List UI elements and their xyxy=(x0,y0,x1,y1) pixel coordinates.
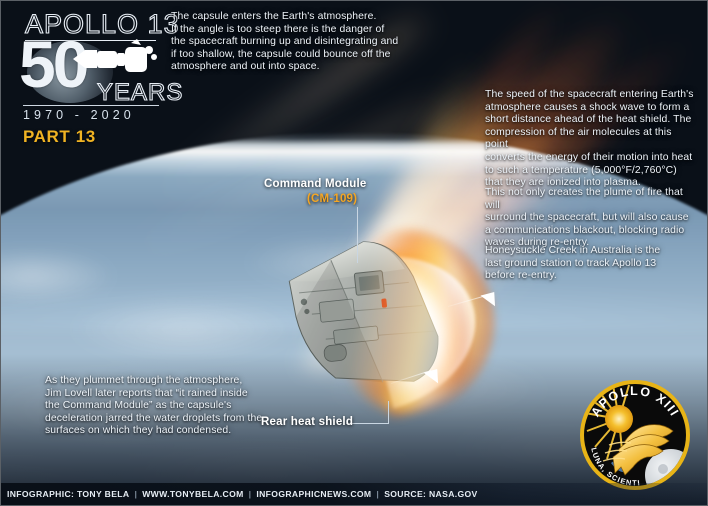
logo-rule-bottom xyxy=(23,105,159,106)
footer-credit-item: INFOGRAPHICNEWS.COM xyxy=(256,489,371,499)
part-number-label: PART 13 xyxy=(23,127,96,147)
paragraph-intro: The capsule enters the Earth's atmospher… xyxy=(171,11,421,74)
callout-rear-heat-shield: Rear heat shield xyxy=(261,416,353,428)
command-module-illustration xyxy=(283,223,493,418)
infographic-canvas: APOLLO 13 50 YEARS 1970 - 2020 PART 13 T… xyxy=(0,0,708,506)
footer-separator: | xyxy=(244,489,257,499)
paragraph-speed: The speed of the spacecraft entering Ear… xyxy=(485,89,697,190)
footer-credit-item: WWW.TONYBELA.COM xyxy=(142,489,243,499)
footer-separator: | xyxy=(129,489,142,499)
paragraph-honeysuckle: Honeysuckle Creek in Australia is the la… xyxy=(485,245,691,283)
footer-credit-bar: INFOGRAPHIC: TONY BELA|WWW.TONYBELA.COM|… xyxy=(1,483,708,505)
apollo-13-anniversary-logo: APOLLO 13 50 YEARS 1970 - 2020 PART 13 xyxy=(9,7,169,142)
logo-years-text: YEARS xyxy=(97,79,183,107)
callout-command-module-id: (CM-109) xyxy=(307,193,357,205)
logo-spacecraft-icon xyxy=(71,37,157,83)
logo-dates-text: 1970 - 2020 xyxy=(23,108,135,122)
apollo-xiii-mission-patch: APOLLO XIII EX LUNA, SCIENTIA xyxy=(579,379,691,491)
leader-line-heat-shield-v xyxy=(388,401,389,424)
paragraph-lovell: As they plummet through the atmosphere, … xyxy=(45,375,263,438)
footer-credit-item: INFOGRAPHIC: TONY BELA xyxy=(7,489,129,499)
footer-credit-item: SOURCE: NASA.GOV xyxy=(384,489,477,499)
footer-credits: INFOGRAPHIC: TONY BELA|WWW.TONYBELA.COM|… xyxy=(1,489,478,499)
paragraph-plume: This not only creates the plume of fire … xyxy=(485,187,691,250)
footer-separator: | xyxy=(371,489,384,499)
leader-line-command-module xyxy=(357,207,358,263)
callout-command-module: Command Module xyxy=(264,178,366,190)
